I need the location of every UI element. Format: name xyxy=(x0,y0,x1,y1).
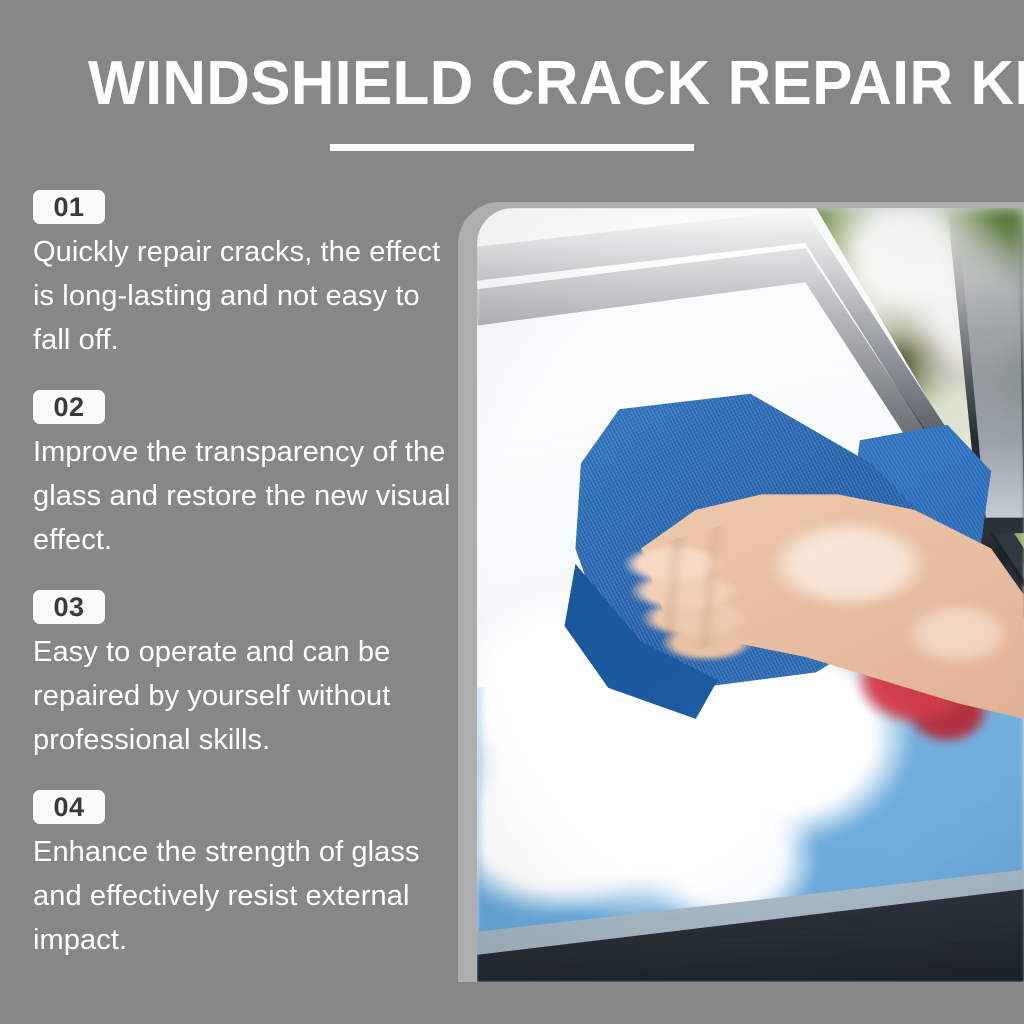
windshield-cleaning-photo xyxy=(477,208,1024,982)
page-title: WINDSHIELD CRACK REPAIR KIT xyxy=(88,46,922,122)
title-divider xyxy=(330,144,694,151)
feature-item-03: 03 Easy to operate and can be repaired b… xyxy=(33,590,453,762)
feature-item-02: 02 Improve the transparency of the glass… xyxy=(33,390,453,562)
photo-layer-vignette xyxy=(477,208,1024,982)
feature-number-badge: 03 xyxy=(33,590,105,624)
product-infographic-poster: WINDSHIELD CRACK REPAIR KIT 01 Quickly r… xyxy=(0,0,1024,1024)
feature-number-badge: 02 xyxy=(33,390,105,424)
product-photo-panel xyxy=(458,202,1024,982)
feature-description: Enhance the strength of glass and effect… xyxy=(33,830,453,962)
feature-description: Easy to operate and can be repaired by y… xyxy=(33,630,453,762)
feature-description: Improve the transparency of the glass an… xyxy=(33,430,453,562)
feature-description: Quickly repair cracks, the effect is lon… xyxy=(33,230,453,362)
feature-item-01: 01 Quickly repair cracks, the effect is … xyxy=(33,190,453,362)
feature-item-04: 04 Enhance the strength of glass and eff… xyxy=(33,790,453,962)
feature-number-badge: 01 xyxy=(33,190,105,224)
feature-number-badge: 04 xyxy=(33,790,105,824)
